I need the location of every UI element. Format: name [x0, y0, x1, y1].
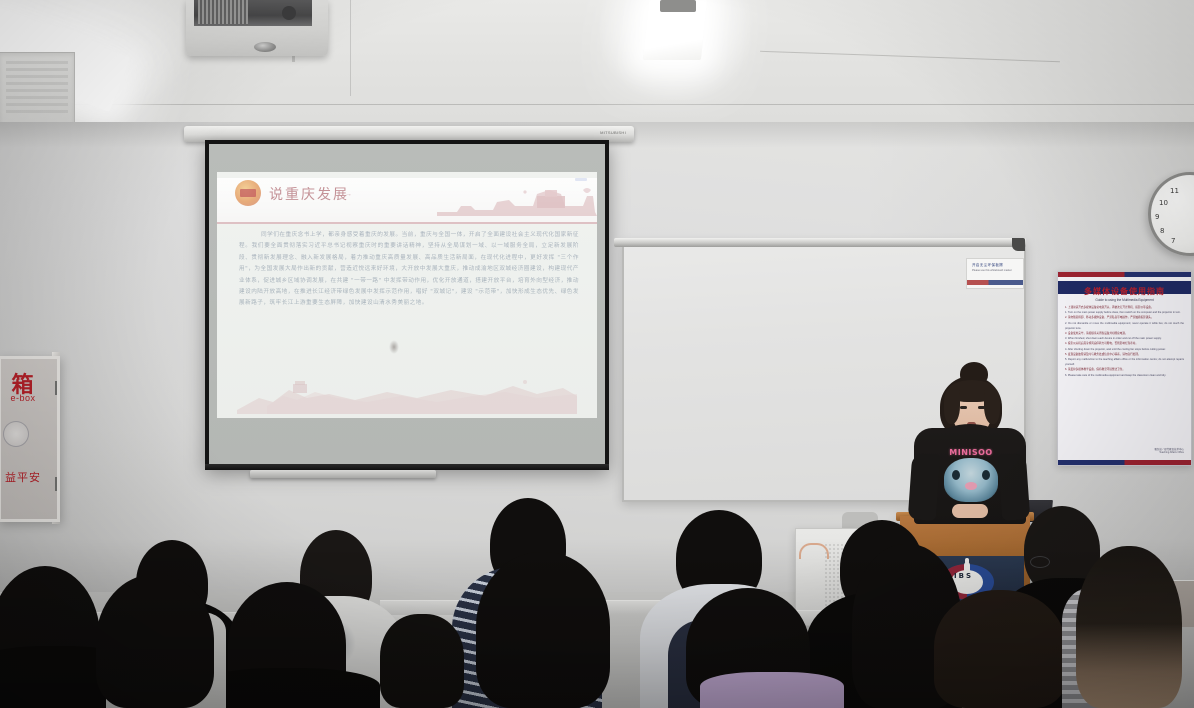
hoodie-print-text: MINISOO: [934, 448, 1008, 457]
fire-cabinet-label-bottom: 益平安: [0, 469, 51, 485]
whiteboard-sign-line1: 开启无尘环保板擦: [972, 263, 1003, 268]
multimedia-guide-poster: 多媒体设备使用指南 Guide to using the Multimedia …: [1057, 271, 1192, 466]
presenter-student: MINISOO: [908, 362, 1028, 532]
ibs-logo-text: IBS: [954, 572, 973, 580]
projection-screen-surface: 说重庆发展 → 同学们在重庆念书上学，都亲身感受着重庆的发展。当前，重庆与全国一…: [209, 144, 605, 464]
ac-vent-icon: [0, 52, 75, 126]
fire-equipment-cabinet[interactable]: 箱 e-box 益平安: [0, 356, 60, 522]
presenter-eye-right: [978, 406, 985, 409]
screen-smudge: [389, 340, 399, 354]
projector-lens: [254, 42, 276, 52]
presenter-hands: [952, 504, 988, 518]
poster-subtitle: Guide to using the Multimedia Equipment: [1058, 298, 1191, 302]
ceiling-seam: [350, 0, 351, 96]
clock-number: 11: [1170, 187, 1179, 195]
audience-head-foreground: [934, 590, 1066, 708]
hoodie-print-eye-right: [982, 470, 990, 480]
screen-brand-label: MITSUBISHI: [600, 130, 626, 135]
audience-head-foreground: [380, 614, 464, 708]
slide-paragraph: 同学们在重庆念书上学，都亲身感受着重庆的发展。当前，重庆与全国一体，开启了全面建…: [239, 232, 579, 306]
poster-item: 5. Report any malfunction to the teachin…: [1065, 357, 1184, 367]
slide-title: 说重庆发展: [269, 184, 349, 204]
fire-cabinet-label-en: e-box: [0, 393, 49, 403]
console-handle-icon: [799, 543, 829, 559]
hoodie-print-nose: [965, 482, 977, 490]
presenter-side-hair-left: [944, 388, 960, 424]
cabinet-hinge-icon: [55, 477, 59, 491]
presenter-arm-left: [908, 453, 941, 521]
poster-items: 1. 上课前请开启多媒体设备总电源开关，再依次打开计算机、投影仪等设备。 1. …: [1065, 305, 1184, 378]
poster-item: 6. Please take care of the multimedia eq…: [1065, 373, 1184, 378]
whiteboard-marker-tray[interactable]: [614, 238, 1026, 247]
presenter-eye-left: [960, 406, 967, 409]
screen-weight-rod[interactable]: [250, 470, 436, 478]
mountain-river-landscape-icon: [237, 376, 577, 414]
clock-number: 7: [1171, 237, 1175, 245]
presentation-slide: 说重庆发展 → 同学们在重庆念书上学，都亲身感受着重庆的发展。当前，重庆与全国一…: [217, 172, 597, 418]
presenter-side-hair-right: [984, 388, 1000, 424]
presenter-arm-right: [998, 453, 1031, 521]
whiteboard-sign-bar: [967, 280, 1023, 285]
glasses-icon: [1030, 556, 1050, 568]
clock-number: 8: [1160, 227, 1164, 235]
projector-icon: [186, 0, 328, 56]
slide-body-text: 同学们在重庆念书上学，都亲身感受着重庆的发展。当前，重庆与全国一体，开启了全面建…: [239, 230, 579, 310]
clock-number: 9: [1155, 213, 1159, 221]
hoodie-print-art-icon: [944, 458, 998, 502]
poster-bottom-bar: [1058, 460, 1191, 465]
projector-knob: [282, 6, 296, 20]
hoodie-print-eye-left: [952, 470, 960, 480]
shadow-mode-label[interactable]: [575, 178, 587, 181]
poster-top-bar: [1058, 272, 1191, 277]
projector-vent: [198, 0, 248, 24]
audience-head-foreground: [476, 552, 610, 708]
classroom-scene: 11 10 9 8 7 箱 e-box 益平安 MITSUBISHI 说重庆发展…: [0, 0, 1194, 708]
ceiling-wall-joint: [0, 104, 1194, 105]
poster-signature-line2: Teaching Affairs Office: [1154, 451, 1184, 454]
poster-signature: 教务处 / 现代教育技术中心 Teaching Affairs Office: [1154, 447, 1184, 454]
audience-head-foreground: [96, 574, 214, 708]
tiananmen-skyline-icon: [437, 186, 597, 216]
fire-cabinet-seal-icon: [3, 421, 29, 447]
poster-title: 多媒体设备使用指南: [1058, 286, 1191, 297]
poster-item: 2. Do not dismantle or move the multimed…: [1065, 321, 1184, 331]
whiteboard-sign-line2: Please use this whiteboard marker: [972, 269, 1012, 272]
audience-head-ombre: [1076, 546, 1182, 708]
cabinet-hinge-icon: [55, 381, 59, 395]
audience-lavender-top: [700, 672, 844, 708]
tube-mount-icon: [660, 0, 696, 12]
slide-title-suffix: →: [345, 191, 352, 198]
whiteboard-corner-cap: [1012, 238, 1025, 251]
clock-number: 10: [1159, 199, 1168, 207]
whiteboard-notice-sign: 开启无尘环保板擦 Please use this whiteboard mark…: [966, 258, 1024, 289]
party-emblem-icon: [235, 180, 261, 206]
